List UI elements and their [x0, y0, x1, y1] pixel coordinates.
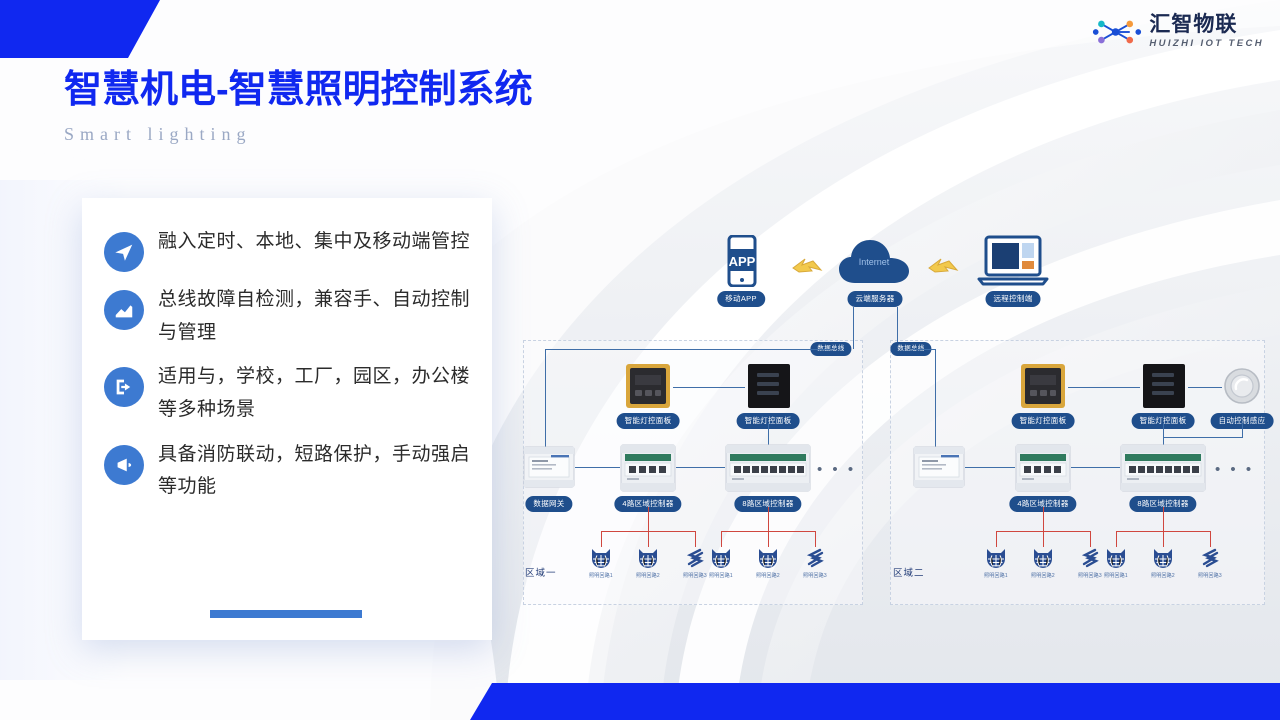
- circuit-label-a2-1: 照明回路1: [984, 572, 1008, 579]
- circuit-label-a1-6: 照明回路3: [803, 572, 827, 579]
- circuit-label-a2-5: 照明回路2: [1151, 572, 1175, 579]
- panel-link-area-2: [1068, 387, 1140, 388]
- smart-light-panel-black-area-1: [747, 363, 791, 414]
- sensor-drop-area-2: [1242, 423, 1243, 437]
- node-label-cloud-server: 云端服务器: [848, 291, 903, 307]
- circuit-label-a2-6: 照明回路3: [1198, 572, 1222, 579]
- svg-text:APP: APP: [729, 254, 756, 269]
- cloud-text: Internet: [859, 257, 890, 267]
- area-controller-8way-area-2: [1120, 443, 1206, 498]
- bus-drop-area-2: [935, 349, 936, 457]
- smart-light-panel-gold-area-1: [625, 363, 671, 414]
- gateway-to-controller-link-area-2: [965, 467, 1015, 468]
- area-label-1: 区域一: [525, 565, 557, 579]
- lighting-circuit-icon-a2-4: [1104, 546, 1128, 575]
- feature-item-2-text: 总线故障自检测，兼容手、自动控制与管理: [158, 284, 470, 349]
- controller-chain-link-area-1: [676, 467, 725, 468]
- power-trunk-a2-c2: [1163, 507, 1164, 531]
- power-drop-a1-c2-3: [815, 531, 816, 547]
- bus-line-area-2: [913, 349, 935, 350]
- wireless-bolt-icon-left: [789, 255, 825, 280]
- feature-item-2: 总线故障自检测，兼容手、自动控制与管理: [104, 284, 470, 349]
- page-subtitle: Smart lighting: [64, 124, 533, 145]
- circuit-label-a1-2: 照明回路2: [636, 572, 660, 579]
- lighting-circuit-icon-a1-3: [683, 546, 707, 575]
- power-drop-a1-c1-2: [648, 531, 649, 547]
- lighting-circuit-icon-a2-2: [1031, 546, 1055, 575]
- node-label-panel-gold-area-2: 智能灯控面板: [1012, 413, 1075, 429]
- motion-sensor-icon-area-2: [1223, 367, 1261, 410]
- network-molecule-icon: [1091, 15, 1143, 49]
- cloud-drop-line-left: [853, 307, 854, 349]
- node-label-panel-gold-area-1: 智能灯控面板: [617, 413, 680, 429]
- gateway-to-controller-link-area-1: [575, 467, 620, 468]
- logo-name-en: HUIZHI IOT TECH: [1149, 38, 1264, 49]
- feature-item-3: 适用与，学校，工厂，园区，办公楼等多种场景: [104, 361, 470, 426]
- smartphone-icon: APP: [723, 235, 761, 292]
- slide-root: 智慧机电-智慧照明控制系统 Smart lighting 汇智物联 HUIZHI…: [0, 0, 1280, 720]
- power-drop-a1-c2-1: [721, 531, 722, 547]
- circuit-label-a1-4: 照明回路1: [709, 572, 733, 579]
- circuit-label-a1-1: 照明回路1: [589, 572, 613, 579]
- power-drop-a2-c2-2: [1163, 531, 1164, 547]
- area-controller-4way-area-1: [620, 443, 676, 498]
- megaphone-icon: [104, 445, 144, 485]
- lighting-circuit-icon-a1-6: [803, 546, 827, 575]
- data-gateway-device-area-1: [523, 443, 575, 496]
- power-drop-a2-c2-3: [1210, 531, 1211, 547]
- line-chart-icon: [104, 290, 144, 330]
- data-gateway-device-area-2: [913, 443, 965, 496]
- laptop-icon: [977, 235, 1049, 292]
- logo-text: 汇智物联 HUIZHI IOT TECH: [1149, 14, 1264, 49]
- cloud-icon: Internet: [837, 237, 913, 290]
- power-drop-a2-c1-1: [996, 531, 997, 547]
- send-plane-icon: [104, 232, 144, 272]
- corner-shape-bottom: [470, 683, 1280, 720]
- smart-light-panel-black-area-2: [1142, 363, 1186, 414]
- brand-logo: 汇智物联 HUIZHI IOT TECH: [1091, 14, 1264, 49]
- circuit-label-a1-5: 照明回路2: [756, 572, 780, 579]
- area-label-2: 区域二: [893, 565, 925, 579]
- power-trunk-a1-c1: [648, 507, 649, 531]
- panel-sensor-link-area-2: [1188, 387, 1222, 388]
- circuit-label-a2-3: 照明回路3: [1078, 572, 1102, 579]
- logout-arrow-icon: [104, 367, 144, 407]
- lighting-circuit-icon-a1-1: [589, 546, 613, 575]
- lighting-circuit-icon-a1-4: [709, 546, 733, 575]
- controller-chain-link-area-2: [1071, 467, 1120, 468]
- power-drop-a1-c1-3: [695, 531, 696, 547]
- lighting-circuit-icon-a1-5: [756, 546, 780, 575]
- circuit-label-a1-3: 照明回路3: [683, 572, 707, 579]
- bus-line-area-1: [545, 349, 830, 350]
- panel-link-area-1: [673, 387, 745, 388]
- power-trunk-a1-c2: [768, 507, 769, 531]
- ellipsis-area-1: • • •: [817, 462, 856, 477]
- lighting-circuit-icon-a1-2: [636, 546, 660, 575]
- node-label-remote-terminal: 远程控制端: [986, 291, 1041, 307]
- circuit-label-a2-2: 照明回路2: [1031, 572, 1055, 579]
- lighting-circuit-icon-a2-1: [984, 546, 1008, 575]
- node-label-gateway-area-1: 数据网关: [525, 496, 572, 512]
- power-trunk-a2-c1: [1043, 507, 1044, 531]
- feature-item-4-text: 具备消防联动，短路保护，手动强启等功能: [158, 439, 470, 504]
- ellipsis-area-2: • • •: [1215, 462, 1254, 477]
- power-drop-a2-c1-3: [1090, 531, 1091, 547]
- area-controller-4way-area-2: [1015, 443, 1071, 498]
- power-drop-a1-c2-2: [768, 531, 769, 547]
- lighting-circuit-icon-a2-5: [1151, 546, 1175, 575]
- feature-card: 融入定时、本地、集中及移动端管控 总线故障自检测，兼容手、自动控制与管理 适用与…: [82, 198, 492, 640]
- wireless-bolt-icon-right: [925, 255, 961, 280]
- page-title: 智慧机电-智慧照明控制系统: [64, 68, 533, 114]
- smart-light-panel-gold-area-2: [1020, 363, 1066, 414]
- power-drop-a2-c2-1: [1116, 531, 1117, 547]
- feature-item-3-text: 适用与，学校，工厂，园区，办公楼等多种场景: [158, 361, 470, 426]
- feature-item-1: 融入定时、本地、集中及移动端管控: [104, 226, 470, 272]
- power-drop-a2-c1-2: [1043, 531, 1044, 547]
- lighting-circuit-icon-a2-6: [1198, 546, 1222, 575]
- power-drop-a1-c1-1: [601, 531, 602, 547]
- title-block: 智慧机电-智慧照明控制系统 Smart lighting: [64, 68, 533, 145]
- sensor-to-controller-bar-area-2: [1163, 437, 1243, 438]
- circuit-label-a2-4: 照明回路1: [1104, 572, 1128, 579]
- feature-item-1-text: 融入定时、本地、集中及移动端管控: [158, 226, 470, 259]
- area-controller-8way-area-1: [725, 443, 811, 498]
- feature-item-4: 具备消防联动，短路保护，手动强启等功能: [104, 439, 470, 504]
- logo-name-cn: 汇智物联: [1149, 14, 1237, 36]
- feature-list: 融入定时、本地、集中及移动端管控 总线故障自检测，兼容手、自动控制与管理 适用与…: [82, 198, 492, 504]
- bus-drop-area-1: [545, 349, 546, 457]
- card-accent-bar: [210, 610, 362, 618]
- system-architecture-diagram: APP 移动APP Internet 云端服务器 远程控制端: [515, 215, 1270, 615]
- lighting-circuit-icon-a2-3: [1078, 546, 1102, 575]
- node-label-mobile-app: 移动APP: [717, 291, 765, 307]
